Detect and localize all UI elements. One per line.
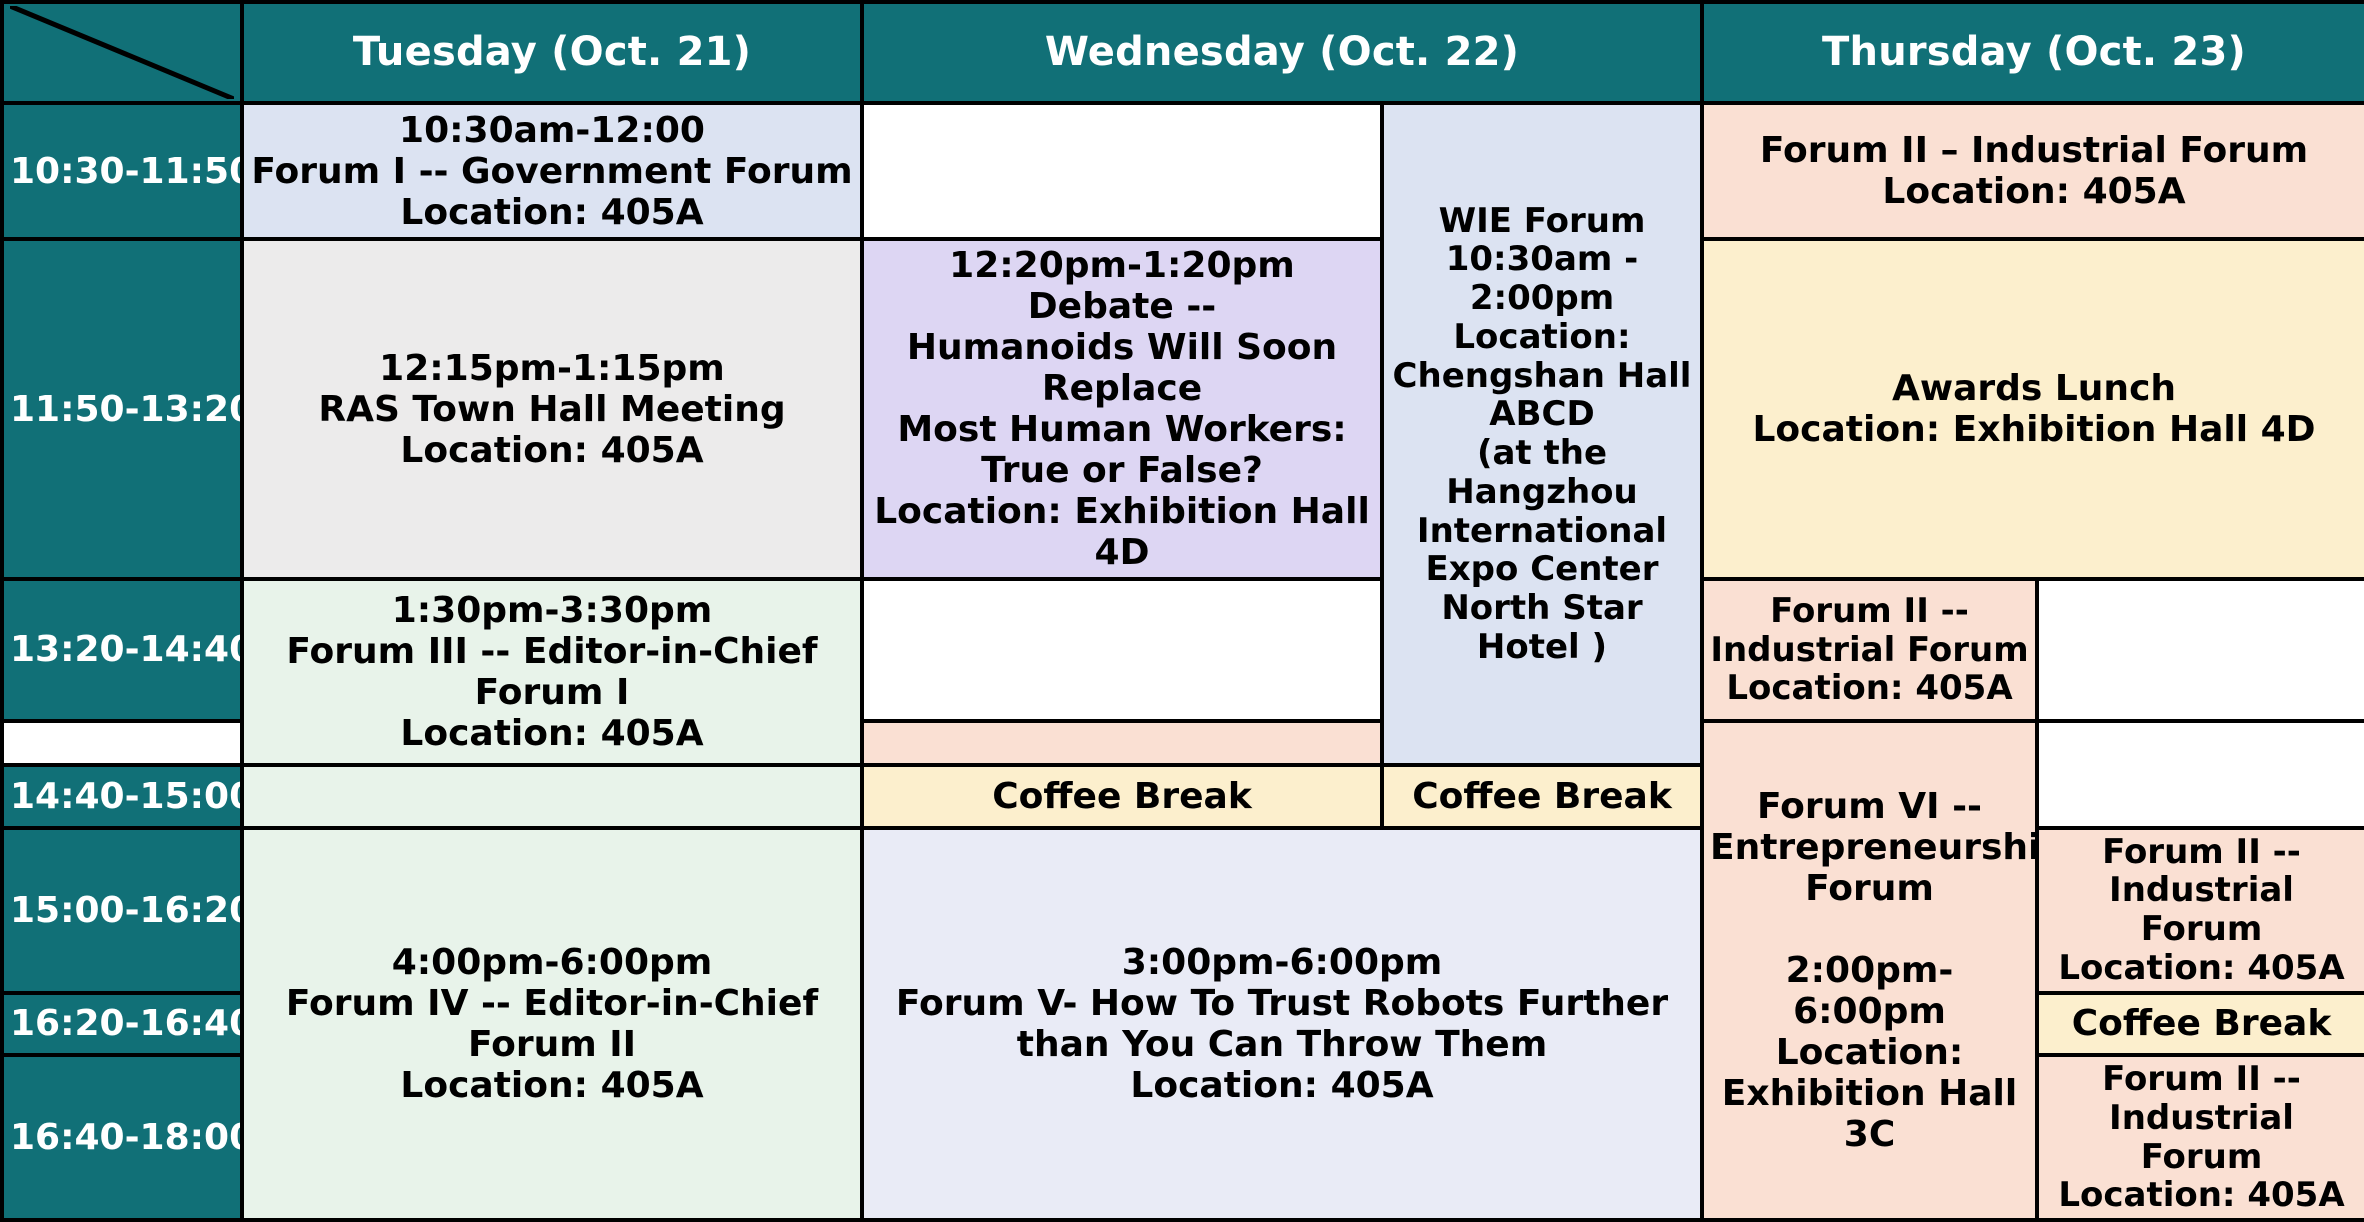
event-thursday-forum2-top[interactable]: Forum II – Industrial Forum Location: 40…: [1702, 103, 2364, 239]
time-slot-4-label: 14:40-15:00: [10, 776, 242, 817]
event-wednesday-debate[interactable]: 12:20pm-1:20pm Debate -- Humanoids Will …: [862, 239, 1382, 579]
event-wednesday-forum5[interactable]: 3:00pm-6:00pm Forum V- How To Trust Robo…: [862, 828, 1702, 1220]
event-tuesday-forum4[interactable]: 4:00pm-6:00pm Forum IV -- Editor-in-Chie…: [242, 828, 862, 1220]
event-wednesday-empty-mid-a: [862, 579, 1382, 720]
event-wednesday-coffee-break[interactable]: Coffee Break: [862, 765, 1382, 828]
day-header-wednesday: Wednesday (Oct. 22): [862, 2, 1702, 103]
event-thursday-forum2-c[interactable]: Forum II -- Industrial Forum Location: 4…: [2037, 1055, 2364, 1220]
corner-cell: [2, 2, 242, 103]
event-tuesday-townhall[interactable]: 12:15pm-1:15pm RAS Town Hall Meeting Loc…: [242, 239, 862, 579]
time-slot-2: 11:50-13:20: [2, 239, 242, 579]
event-thursday-empty-right: [2037, 579, 2364, 720]
event-thursday-forum2-b[interactable]: Forum II -- Industrial Forum Location: 4…: [2037, 828, 2364, 993]
time-slot-1-label: 10:30-11:50: [10, 151, 242, 192]
event-tuesday-forum3-continuation: [242, 765, 862, 828]
schedule-row: 10:30-11:50 10:30am-12:00 Forum I -- Gov…: [2, 103, 2364, 239]
event-thursday-coffee-break-1[interactable]: Coffee Break: [1382, 765, 1702, 828]
time-slot-5: 15:00-16:20: [2, 828, 242, 993]
event-wednesday-empty-top: [862, 103, 1382, 239]
day-header-wednesday-label: Wednesday (Oct. 22): [1045, 29, 1519, 75]
conference-schedule-table: Tuesday (Oct. 21) Wednesday (Oct. 22) Th…: [0, 0, 2364, 1222]
event-wednesday-wie-forum[interactable]: WIE Forum 10:30am - 2:00pm Location: Che…: [1382, 103, 1702, 765]
day-header-thursday: Thursday (Oct. 23): [1702, 2, 2364, 103]
event-thursday-forum6[interactable]: Forum VI -- Entrepreneurship Forum 2:00p…: [1702, 721, 2037, 1220]
time-slot-7: 16:40-18:00: [2, 1055, 242, 1220]
time-slot-1: 10:30-11:50: [2, 103, 242, 239]
time-slot-2-label: 11:50-13:20: [10, 389, 242, 430]
header-row: Tuesday (Oct. 21) Wednesday (Oct. 22) Th…: [2, 2, 2364, 103]
event-tuesday-forum1[interactable]: 10:30am-12:00 Forum I -- Government Foru…: [242, 103, 862, 239]
event-thursday-forum2-a-filler: [862, 721, 1382, 765]
day-header-tuesday: Tuesday (Oct. 21): [242, 2, 862, 103]
time-slot-4: 14:40-15:00: [2, 765, 242, 828]
event-thursday-coffee-break-2[interactable]: Coffee Break: [2037, 993, 2364, 1056]
schedule-row: 11:50-13:20 12:15pm-1:15pm RAS Town Hall…: [2, 239, 2364, 579]
day-header-tuesday-label: Tuesday (Oct. 21): [353, 29, 751, 75]
time-slot-6-label: 16:20-16:40: [10, 1003, 242, 1044]
time-slot-3-label: 13:20-14:40: [10, 629, 242, 670]
event-tuesday-forum3[interactable]: 1:30pm-3:30pm Forum III -- Editor-in-Chi…: [242, 579, 862, 765]
diagonal-divider-icon: [10, 6, 234, 99]
time-slot-6: 16:20-16:40: [2, 993, 242, 1056]
day-header-thursday-label: Thursday (Oct. 23): [1822, 29, 2246, 75]
time-slot-3: 13:20-14:40: [2, 579, 242, 720]
event-wednesday-empty-mid-b: [2, 721, 242, 765]
schedule-row: 13:20-14:40 1:30pm-3:30pm Forum III -- E…: [2, 579, 2364, 720]
event-thursday-awards-lunch[interactable]: Awards Lunch Location: Exhibition Hall 4…: [1702, 239, 2364, 579]
time-slot-7-label: 16:40-18:00: [10, 1117, 242, 1158]
event-thursday-forum2-a[interactable]: Forum II -- Industrial Forum Location: 4…: [1702, 579, 2037, 720]
time-slot-5-label: 15:00-16:20: [10, 890, 242, 931]
